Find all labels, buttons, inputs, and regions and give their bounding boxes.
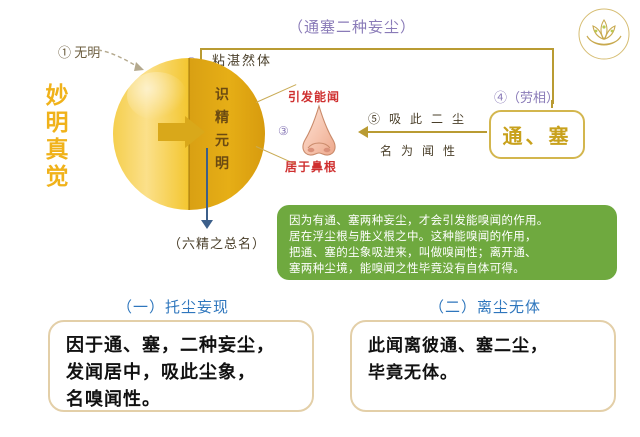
top-caption: （通塞二种妄尘） (288, 16, 416, 37)
label-step4: ④（劳相） (494, 87, 559, 106)
section-title-2: （二）离尘无体 (400, 296, 570, 317)
vtitle-char-1: 明 (40, 109, 74, 136)
label-step5-line2: 名 为 闻 性 (380, 142, 458, 159)
sphere-char-1: 精 (209, 107, 235, 130)
arrow-line-step5 (367, 131, 487, 133)
section-title-1: （一）托尘妄现 (88, 296, 258, 317)
quote2-line-1: 毕竟无体。 (368, 359, 598, 386)
green-note-line-1: 居在浮尘根与胜义根之中。这种能嗅闻的作用， (289, 229, 605, 245)
label-yinfa-nengwen: 引发能闻 (288, 88, 340, 105)
left-vertical-title: 妙 明 真 觉 (40, 82, 74, 190)
sphere-char-3: 明 (209, 153, 235, 176)
vtitle-char-2: 真 (40, 136, 74, 163)
green-note-line-3: 塞两种尘境，能嗅闻之性毕竟没有自体可得。 (289, 261, 605, 277)
diagram-canvas: （通塞二种妄尘） ① 无明 ② 粘湛然体 妙 明 真 觉 识 精 元 明 (0, 0, 640, 437)
green-note-line-0: 因为有通、塞两种妄尘，才会引发能嗅闻的作用。 (289, 213, 605, 229)
vtitle-char-3: 觉 (40, 163, 74, 190)
label-step1: ① 无明 (58, 42, 100, 61)
green-note-box: 因为有通、塞两种妄尘，才会引发能嗅闻的作用。 居在浮尘根与胜义根之中。这种能嗅闻… (277, 205, 617, 280)
sphere-vertical-text: 识 精 元 明 (209, 84, 235, 176)
quote1-line-2: 名嗅闻性。 (66, 386, 296, 413)
quote-box-2: 此闻离彼通、塞二尘， 毕竟无体。 (350, 320, 616, 412)
quote1-line-1: 发闻居中，吸此尘象， (66, 359, 296, 386)
sphere-highlight (127, 72, 187, 120)
sphere-char-2: 元 (209, 130, 235, 153)
green-note-line-2: 把通、塞的尘象吸进来，叫做嗅闻性；离开通、 (289, 245, 605, 261)
arrow-head-step5 (358, 126, 368, 138)
label-liujing: （六精之总名） (168, 233, 266, 252)
quote-box-1: 因于通、塞，二种妄尘， 发闻居中，吸此尘象， 名嗅闻性。 (48, 320, 314, 412)
tongse-text: 通、塞 (491, 112, 583, 157)
tongse-box: 通、塞 (489, 110, 585, 159)
sphere-char-0: 识 (209, 84, 235, 107)
quote1-line-0: 因于通、塞，二种妄尘， (66, 332, 296, 359)
arrow-head-sphere-bottom (201, 220, 213, 229)
vtitle-char-0: 妙 (40, 82, 74, 109)
gold-sphere: 识 精 元 明 (113, 58, 265, 210)
label-juyu-bigen: 居于鼻根 (285, 158, 337, 175)
label-step3-number: ③ (278, 124, 289, 139)
arrow-line-sphere-bottom (206, 148, 208, 222)
sphere-arrow-head (185, 116, 205, 148)
nose-icon (296, 104, 342, 160)
lotus-logo (576, 6, 632, 62)
label-step5-line1: ⑤ 吸 此 二 尘 (368, 110, 467, 127)
quote2-line-0: 此闻离彼通、塞二尘， (368, 332, 598, 359)
sphere-arrow-body (158, 123, 186, 141)
